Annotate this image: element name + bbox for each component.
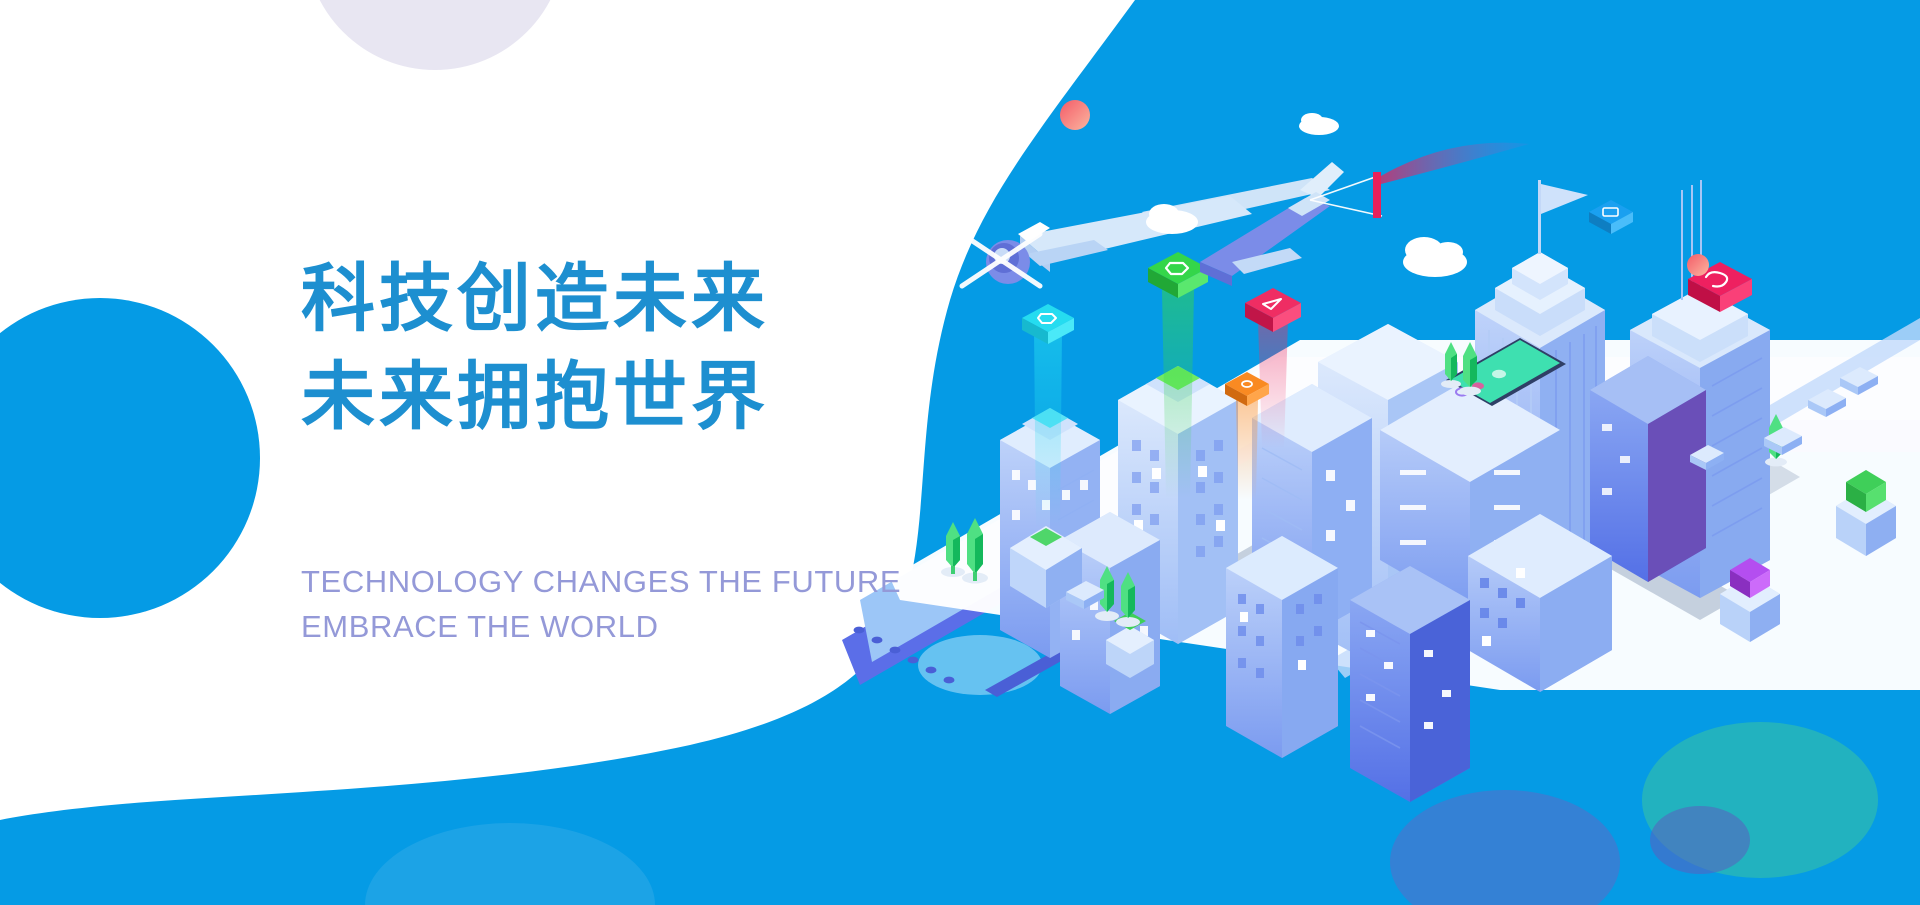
red-balloon-right [1687,254,1709,276]
beam-cyan [1034,330,1062,528]
beam-green [1162,290,1194,498]
subtitle-line-1: TECHNOLOGY CHANGES THE FUTURE [301,560,901,605]
building-front-medium [1226,536,1338,758]
building-purple-slab [1590,356,1706,582]
isometric-city-illustration [0,0,1920,905]
cyan-folder-icon [1022,304,1074,344]
pink-send-icon [1245,288,1301,332]
cloud-big-right [1403,237,1467,277]
subtitle-block: TECHNOLOGY CHANGES THE FUTURE EMBRACE TH… [301,560,901,650]
green-folder-icon [1148,252,1208,298]
blue-card-icon [1589,200,1633,234]
hero-banner: 科技创造未来 未来拥抱世界 TECHNOLOGY CHANGES THE FUT… [0,0,1920,905]
balloons [1060,100,1709,276]
headline-block: 科技创造未来 未来拥抱世界 [301,250,941,447]
beam-orange [1236,400,1258,500]
red-balloon-upper [1060,100,1090,130]
building-front-dark [1350,566,1470,802]
subtitle-line-2: EMBRACE THE WORLD [301,605,901,650]
cloud-upper-right [1299,113,1339,135]
headline-line-1: 科技创造未来 [301,250,941,348]
headline-line-2: 未来拥抱世界 [301,348,941,446]
banner-streamer [1373,172,1381,218]
